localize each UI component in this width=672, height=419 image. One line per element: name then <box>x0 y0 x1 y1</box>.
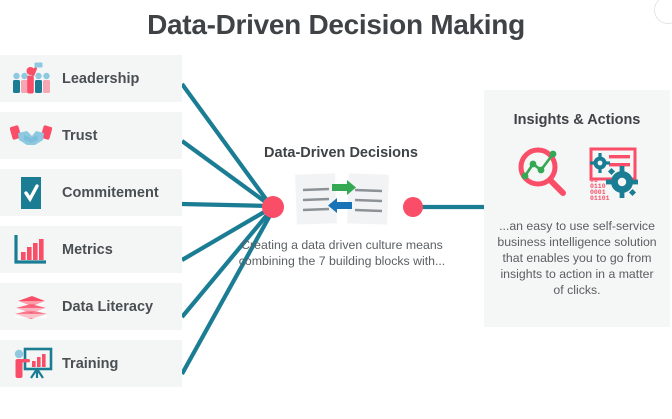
document-gears-binary-icon: 01 0110 0001 01101 <box>585 144 641 205</box>
block-card-data-literacy[interactable]: Data Literacy <box>0 283 182 330</box>
diagram-canvas: Data-Driven Decision Making <box>0 0 672 419</box>
data-driven-decisions-hub-node <box>262 196 284 218</box>
block-label: Trust <box>62 128 97 144</box>
books-stack-icon <box>8 286 54 328</box>
leadership-people-icon <box>8 58 54 100</box>
block-label: Training <box>62 356 118 372</box>
connector-line-commitement <box>182 204 271 206</box>
center-caption: Creating a data driven culture means com… <box>224 238 460 269</box>
block-label: Commitement <box>62 185 159 201</box>
insights-icon-row: 01 0110 0001 01101 <box>484 142 670 206</box>
magnifier-line-chart-icon <box>513 144 569 205</box>
block-card-trust[interactable]: Trust <box>0 112 182 159</box>
block-label: Metrics <box>62 242 113 258</box>
presenter-board-icon <box>8 343 54 385</box>
block-card-commitement[interactable]: Commitement <box>0 169 182 216</box>
center-heading: Data-Driven Decisions <box>216 145 466 161</box>
insights-actions-panel: Insights & Actions <box>484 90 670 327</box>
insights-output-node <box>403 197 423 217</box>
block-card-training[interactable]: Training <box>0 340 182 387</box>
building-blocks-list: Leadership Trust Commiteme <box>0 55 182 397</box>
block-card-leadership[interactable]: Leadership <box>0 55 182 102</box>
block-card-metrics[interactable]: Metrics <box>0 226 182 273</box>
insights-heading: Insights & Actions <box>484 112 670 128</box>
insights-caption: ...an easy to use self-service business … <box>494 218 660 298</box>
documents-exchange-arrows-icon <box>294 170 390 228</box>
block-label: Data Literacy <box>62 299 153 315</box>
checkbox-check-icon <box>8 172 54 214</box>
handshake-icon <box>8 115 54 157</box>
svg-text:01101: 01101 <box>590 195 610 200</box>
block-label: Leadership <box>62 71 139 87</box>
bar-chart-icon <box>8 229 54 271</box>
